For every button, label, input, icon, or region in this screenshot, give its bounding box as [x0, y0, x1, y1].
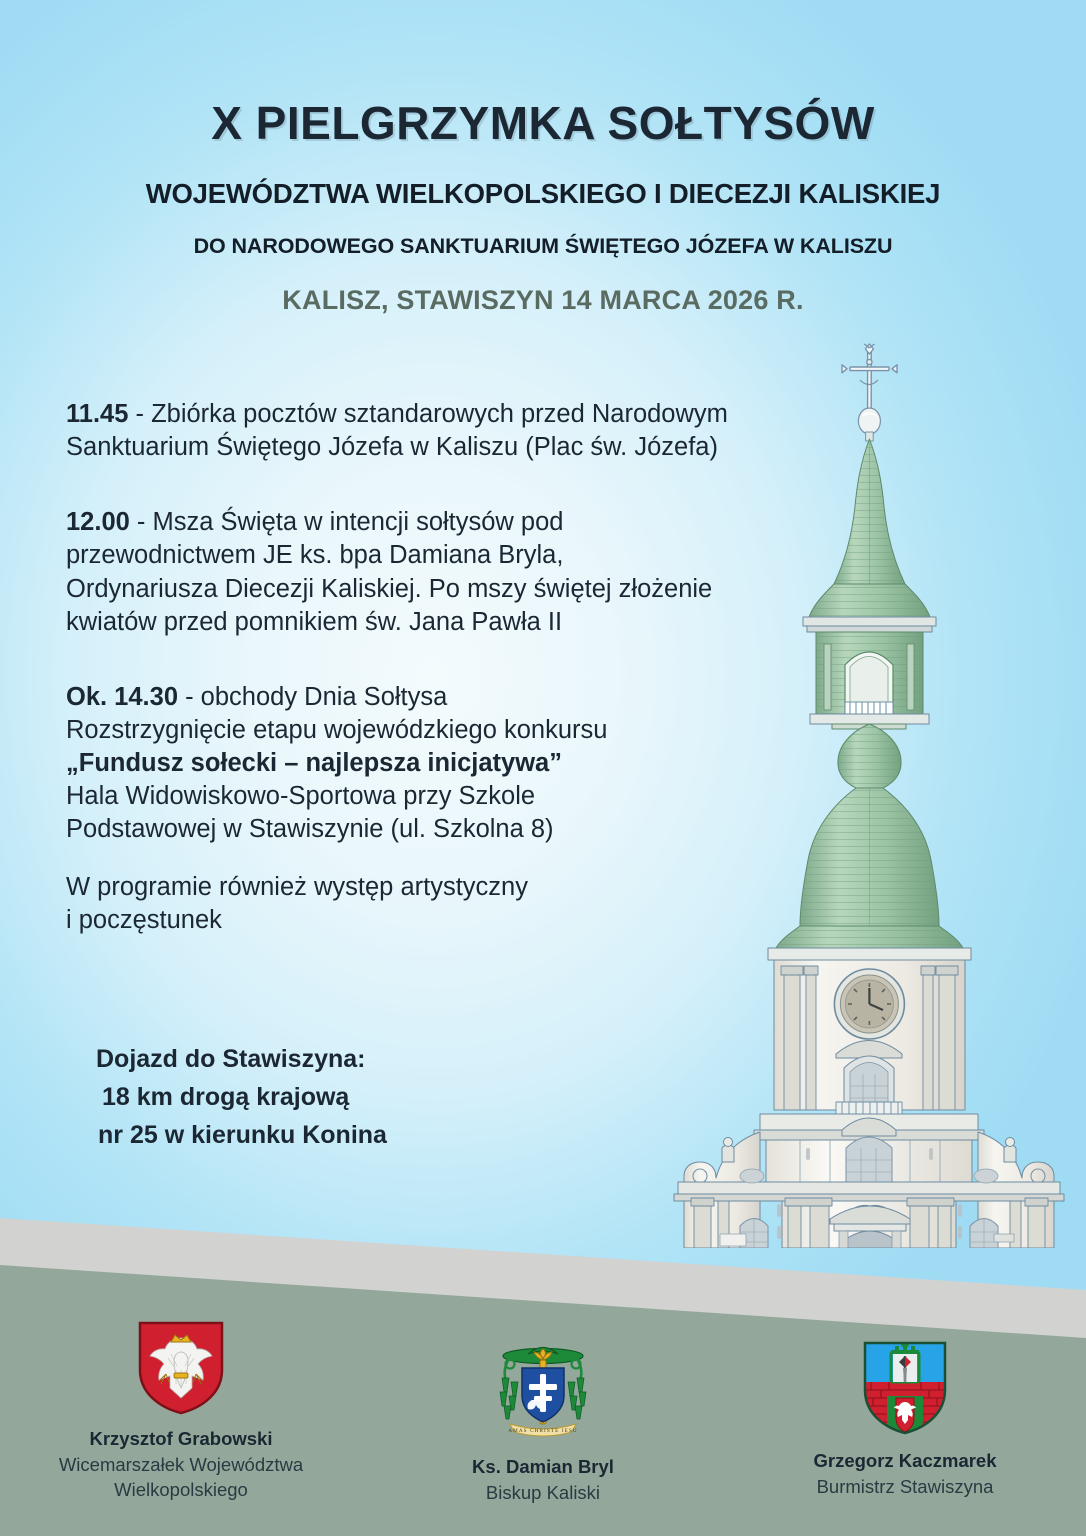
- programme-item: 11.45 - Zbiórka pocztów sztandarowych pr…: [66, 398, 866, 464]
- programme-time: Ok. 14.30: [66, 683, 178, 711]
- stawiszyn-coat-of-arms-icon: [859, 1338, 951, 1436]
- programme-text: W programie również występ artystyczny: [66, 871, 866, 904]
- subtitle-two: DO NARODOWEGO SANKTUARIUM ŚWIĘTEGO JÓZEF…: [0, 210, 1086, 259]
- signatory-name: Krzysztof Grabowski: [90, 1428, 273, 1450]
- signatory-role-line: Wicemarszałek Województwa: [59, 1454, 303, 1475]
- signatory-role: Biskup Kaliski: [486, 1481, 600, 1506]
- programme-list: 11.45 - Zbiórka pocztów sztandarowych pr…: [66, 398, 866, 937]
- page-title: X PIELGRZYMKA SOŁTYSÓW: [0, 0, 1086, 150]
- poster-root: X PIELGRZYMKA SOŁTYSÓW WOJEWÓDZTWA WIELK…: [0, 0, 1086, 1536]
- signatory-name: Grzegorz Kaczmarek: [813, 1450, 996, 1472]
- programme-venue: Hala Widowiskowo-Sportowa przy Szkole: [66, 780, 866, 813]
- programme-text: Rozstrzygnięcie etapu wojewódzkiego konk…: [66, 714, 866, 747]
- signatory-name: Ks. Damian Bryl: [472, 1456, 614, 1478]
- programme-item: 12.00 - Msza Święta w intencji sołtysów …: [66, 506, 866, 639]
- directions-heading: Dojazd do Stawiszyna:: [96, 1040, 387, 1078]
- event-date: KALISZ, STAWISZYN 14 MARCA 2026 R.: [0, 259, 1086, 316]
- signatory-role: Burmistrz Stawiszyna: [817, 1475, 994, 1500]
- programme-text: i poczęstunek: [66, 904, 866, 937]
- signatory-role: Wicemarszałek Województwa Wielkopolskieg…: [59, 1453, 303, 1503]
- svg-text:AMAS CHRISTE IESU: AMAS CHRISTE IESU: [508, 1428, 577, 1434]
- poster-headings: X PIELGRZYMKA SOŁTYSÓW WOJEWÓDZTWA WIELK…: [0, 0, 1086, 316]
- programme-text: - Zbiórka pocztów sztandarowych przed Na…: [128, 400, 728, 428]
- subtitle-one: WOJEWÓDZTWA WIELKOPOLSKIEGO I DIECEZJI K…: [0, 150, 1086, 210]
- programme-time: 11.45: [66, 400, 128, 428]
- signatory-wielkopolska: Krzysztof Grabowski Wicemarszałek Wojewó…: [0, 1318, 362, 1506]
- programme-time: 12.00: [66, 508, 130, 536]
- programme-text: - obchody Dnia Sołtysa: [178, 683, 447, 711]
- programme-text: Sanktuarium Świętego Józefa w Kaliszu (P…: [66, 431, 866, 464]
- signatory-stawiszyn: Grzegorz Kaczmarek Burmistrz Stawiszyna: [724, 1318, 1086, 1506]
- directions-distance: 18 km drogą krajową: [96, 1078, 387, 1116]
- signatory-role-line: Wielkopolskiego: [114, 1479, 248, 1500]
- programme-venue: Podstawowej w Stawiszynie (ul. Szkolna 8…: [66, 813, 866, 846]
- directions-road: nr 25 w kierunku Konina: [96, 1116, 387, 1154]
- programme-text: Ordynariusza Diecezji Kaliskiej. Po mszy…: [66, 573, 866, 606]
- bishop-coat-of-arms-icon: AMAS CHRISTE IESU: [484, 1338, 602, 1442]
- signatory-bishop: AMAS CHRISTE IESU Ks. Damian Bryl Biskup…: [362, 1318, 724, 1506]
- wielkopolska-coat-of-arms-icon: [135, 1318, 227, 1416]
- spacer: [66, 847, 866, 871]
- programme-item: Ok. 14.30 - obchody Dnia Sołtysa Rozstrz…: [66, 681, 866, 937]
- signatories-row: Krzysztof Grabowski Wicemarszałek Wojewó…: [0, 1318, 1086, 1506]
- directions-block: Dojazd do Stawiszyna: 18 km drogą krajow…: [96, 1040, 387, 1154]
- programme-text: kwiatów przed pomnikiem św. Jana Pawła I…: [66, 606, 866, 639]
- programme-text: - Msza Święta w intencji sołtysów pod: [130, 508, 564, 536]
- contest-name: „Fundusz sołecki – najlepsza inicjatywa”: [66, 747, 866, 780]
- programme-text: przewodnictwem JE ks. bpa Damiana Bryla,: [66, 539, 866, 572]
